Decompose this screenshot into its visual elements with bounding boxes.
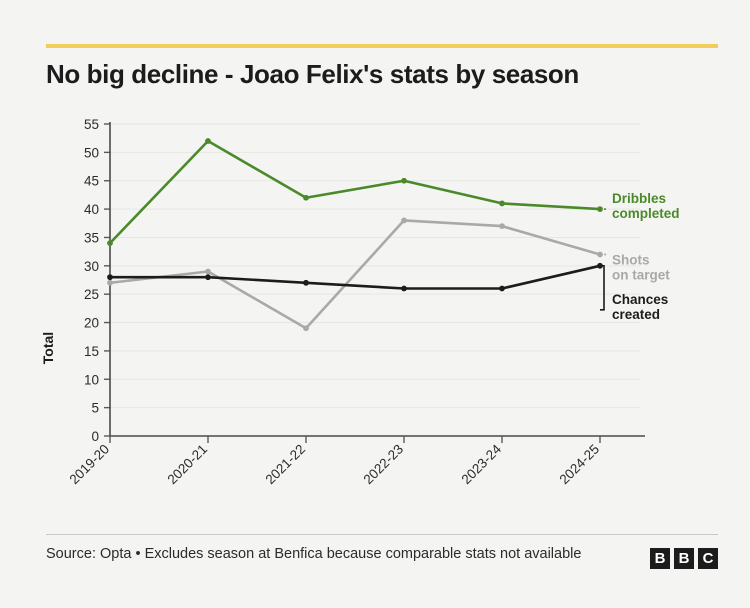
data-point (499, 223, 505, 229)
x-axis-tick-label: 2023-24 (458, 441, 504, 487)
x-axis-tick-label: 2020-21 (164, 442, 210, 488)
data-point (205, 274, 211, 280)
data-point (107, 280, 113, 286)
data-point (205, 269, 211, 275)
x-axis-tick-label: 2021-22 (262, 442, 308, 488)
chances-created-bracket (600, 266, 604, 310)
data-point (499, 201, 505, 207)
y-axis-tick-label: 15 (84, 344, 99, 359)
y-axis-tick-label: 35 (84, 230, 99, 245)
bbc-logo-letter-3: C (698, 548, 718, 569)
y-axis-tick-label: 55 (84, 117, 99, 132)
y-axis-tick-label: 5 (91, 401, 99, 416)
series-label: Chances (612, 292, 668, 307)
data-point (303, 325, 309, 331)
y-axis-tick-label: 50 (84, 145, 99, 160)
data-point (107, 240, 113, 246)
line-chart: 05101520253035404550552019-202020-212021… (0, 110, 750, 520)
data-point (597, 206, 603, 212)
series-label-line2: on target (612, 267, 670, 282)
data-point (303, 280, 309, 286)
top-accent-rule (46, 44, 718, 48)
data-point (107, 274, 113, 280)
y-axis-tick-label: 10 (84, 372, 99, 387)
x-axis-tick-label: 2019-20 (66, 442, 112, 488)
data-point (303, 195, 309, 201)
footer-divider (46, 534, 718, 535)
plot-area: Total 05101520253035404550552019-202020-… (0, 110, 750, 520)
x-axis-tick-label: 2024-25 (556, 442, 602, 488)
chart-card: No big decline - Joao Felix's stats by s… (0, 0, 750, 608)
series-line (110, 266, 600, 289)
y-axis-tick-label: 30 (84, 259, 99, 274)
x-axis-tick-label: 2022-23 (360, 442, 406, 488)
page-title: No big decline - Joao Felix's stats by s… (46, 60, 726, 90)
series-label: Dribbles (612, 191, 666, 206)
data-point (597, 252, 603, 258)
data-point (401, 286, 407, 292)
data-point (401, 218, 407, 224)
y-axis-tick-label: 25 (84, 287, 99, 302)
y-axis-tick-label: 40 (84, 202, 99, 217)
y-axis-tick-label: 0 (91, 429, 99, 444)
series-label-line2: completed (612, 206, 680, 221)
bbc-logo-letter-1: B (650, 548, 670, 569)
data-point (401, 178, 407, 184)
y-axis-tick-label: 45 (84, 174, 99, 189)
series-line (110, 141, 600, 243)
data-point (205, 138, 211, 144)
series-label-line2: created (612, 307, 660, 322)
y-axis-tick-label: 20 (84, 316, 99, 331)
source-note: Source: Opta • Excludes season at Benfic… (46, 544, 626, 565)
bbc-logo-letter-2: B (674, 548, 694, 569)
bbc-logo: B B C (650, 548, 718, 569)
series-line (110, 220, 600, 328)
series-label: Shots (612, 252, 650, 267)
data-point (499, 286, 505, 292)
y-axis-title: Total (40, 288, 56, 408)
